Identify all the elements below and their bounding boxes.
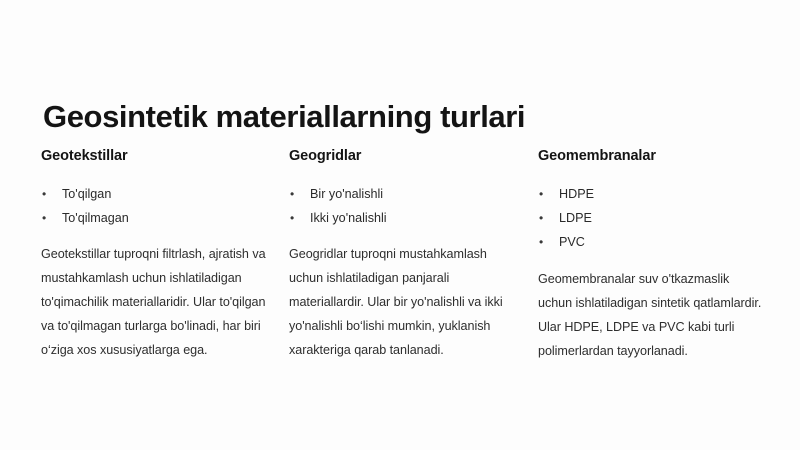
list-item-label: To'qilmagan [62,211,129,225]
list-item-label: LDPE [559,211,592,225]
column-heading: Geomembranalar [538,148,766,165]
list-item-label: To'qilgan [62,187,111,201]
bullet-dot-icon: • [539,230,543,254]
content-column-geotekstillar: Geotekstillar • To'qilgan • To'qilmagan … [41,148,269,362]
page-title: Geosintetik materiallarning turlari [43,99,525,135]
list-item-label: PVC [559,235,585,249]
slide-canvas: Geosintetik materiallarning turlari Geot… [0,0,800,450]
content-column-geogridlar: Geogridlar • Bir yo'nalishli • Ikki yo'n… [289,148,517,362]
bullet-dot-icon: • [539,206,543,230]
list-item: • To'qilgan [41,182,269,206]
bullet-list: • To'qilgan • To'qilmagan [41,182,269,230]
list-item: • To'qilmagan [41,206,269,230]
column-heading: Geotekstillar [41,148,269,165]
bullet-dot-icon: • [539,182,543,206]
bullet-dot-icon: • [290,182,294,206]
list-item-label: Bir yo'nalishli [310,187,383,201]
bullet-dot-icon: • [42,182,46,206]
list-item-label: Ikki yo'nalishli [310,211,387,225]
content-column-geomembranalar: Geomembranalar • HDPE • LDPE • PVC Geome… [538,148,766,363]
list-item: • HDPE [538,182,766,206]
list-item: • LDPE [538,206,766,230]
column-paragraph: Geogridlar tuproqni mustahkamlash uchun … [289,242,517,362]
bullet-list: • Bir yo'nalishli • Ikki yo'nalishli [289,182,517,230]
bullet-dot-icon: • [42,206,46,230]
column-heading: Geogridlar [289,148,517,165]
bullet-dot-icon: • [290,206,294,230]
bullet-list: • HDPE • LDPE • PVC [538,182,766,254]
list-item: • PVC [538,230,766,254]
column-paragraph: Geomembranalar suv o'tkazmaslik uchun is… [538,267,766,363]
list-item: • Bir yo'nalishli [289,182,517,206]
list-item: • Ikki yo'nalishli [289,206,517,230]
list-item-label: HDPE [559,187,594,201]
column-paragraph: Geotekstillar tuproqni filtrlash, ajrati… [41,242,269,362]
